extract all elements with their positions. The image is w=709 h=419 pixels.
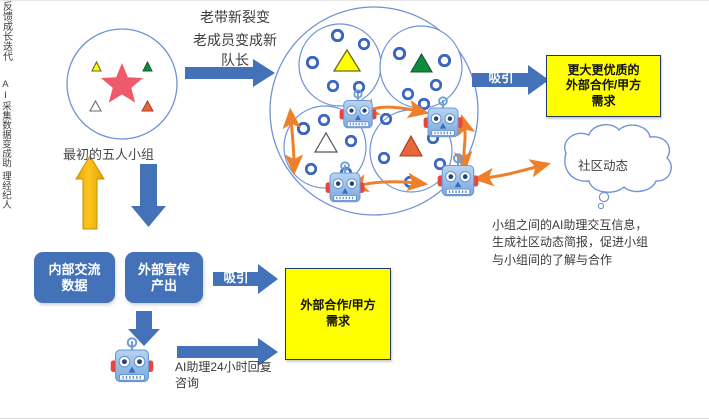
bottom-yellow-box[interactable]: 外部合作/甲方 需求 — [285, 268, 391, 360]
internal-data-box[interactable]: 内部交流 数据 — [34, 252, 115, 303]
top-right-yellow-box-label: 更大更优质的 外部合作/甲方 需求 — [566, 63, 641, 110]
fission-title-line1: 老带新裂变 — [178, 9, 292, 26]
down-arrow-to-robot — [128, 311, 160, 346]
internal-data-box-label: 内部交流 数据 — [48, 262, 100, 294]
cloud-label: 社区动态 — [578, 155, 628, 174]
bottom-yellow-box-label: 外部合作/甲方 需求 — [300, 298, 375, 329]
ai-reply-caption: AI助理24小时回复 咨询 — [175, 359, 335, 391]
fission-title-line3: 队长 — [178, 52, 292, 69]
group-circle-green — [380, 26, 462, 109]
down-arrow-to-boxes — [131, 164, 166, 227]
diagram-canvas: 老带新裂变 老成员变成新 队长 最初的五人小组 反馈成长迭代 AI采集数据变成助… — [0, 0, 709, 419]
initial-group-caption: 最初的五人小组 — [63, 147, 154, 163]
robot-icon-assistant — [111, 338, 154, 381]
feedback-up-arrow — [76, 156, 104, 229]
external-output-box[interactable]: 外部宣传 产出 — [125, 252, 203, 303]
attract-arrow-top — [472, 65, 549, 95]
group-circle-yellow — [299, 24, 381, 106]
initial-group-circle — [67, 29, 177, 139]
attract-arrow-bottom — [213, 264, 278, 294]
community-note-caption: 小组之间的AI助理交互信息， 生成社区动态简报，促进小组 与小组间的了解与合作 — [492, 217, 702, 269]
fission-title-line2: 老成员变成新 — [172, 32, 298, 49]
external-output-box-label: 外部宣传 产出 — [138, 262, 190, 294]
top-right-yellow-box[interactable]: 更大更优质的 外部合作/甲方 需求 — [546, 55, 661, 117]
